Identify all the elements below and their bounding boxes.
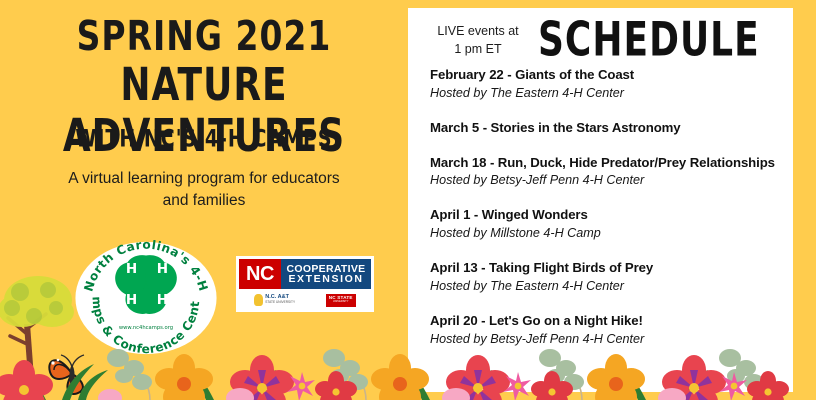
left-panel: SPRING 2021 NATURE ADVENTURES WITH NC'S …	[0, 0, 408, 400]
event-host: Hosted by The Eastern 4-H Center	[430, 278, 778, 295]
event-title: April 1 - Winged Wonders	[430, 206, 778, 224]
clover-letter-4: H	[157, 292, 168, 308]
schedule-event-list: February 22 - Giants of the Coast Hosted…	[430, 66, 778, 348]
extension-line-2: EXTENSION	[288, 274, 363, 285]
nc-cooperative-extension-logo: NC COOPERATIVE EXTENSION N.C. A&T STATE …	[236, 256, 374, 312]
title-spring-2021: SPRING 2021	[0, 11, 408, 60]
schedule-event: February 22 - Giants of the Coast Hosted…	[430, 66, 778, 102]
live-note-line-1: LIVE events at	[426, 22, 530, 40]
nc-mark: NC	[239, 259, 281, 289]
logo-url: www.nc4hcamps.org	[119, 325, 173, 331]
extension-logo-main: NC COOPERATIVE EXTENSION	[239, 259, 371, 289]
program-subtitle: A virtual learning program for educators…	[34, 168, 374, 213]
clover-letter-2: H	[157, 261, 168, 277]
schedule-event: April 13 - Taking Flight Birds of Prey H…	[430, 259, 778, 295]
nc-at-logo: N.C. A&T STATE UNIVERSITY	[254, 294, 295, 306]
schedule-event: March 5 - Stories in the Stars Astronomy	[430, 119, 778, 137]
event-host: Hosted by The Eastern 4-H Center	[430, 85, 778, 102]
live-events-note: LIVE events at 1 pm ET	[426, 22, 530, 58]
schedule-event: April 20 - Let's Go on a Night Hike! Hos…	[430, 312, 778, 348]
nc-at-seal-icon	[254, 294, 263, 306]
subtitle-line-1: A virtual learning program for educators	[34, 168, 374, 190]
clover-letter-3: H	[126, 292, 137, 308]
title-with-nc-4h-camps: WITH NC'S 4-H CAMPS	[0, 125, 408, 153]
event-title: February 22 - Giants of the Coast	[430, 66, 778, 84]
poster-canvas: SPRING 2021 NATURE ADVENTURES WITH NC'S …	[0, 0, 816, 400]
extension-partner-logos: N.C. A&T STATE UNIVERSITY NC STATE UNIVE…	[239, 289, 371, 309]
schedule-panel: LIVE events at 1 pm ET SCHEDULE February…	[408, 8, 793, 392]
clover-letter-1: H	[126, 261, 137, 277]
extension-wordmark: COOPERATIVE EXTENSION	[281, 259, 371, 289]
schedule-heading: SCHEDULE	[538, 14, 760, 67]
event-title: April 13 - Taking Flight Birds of Prey	[430, 259, 778, 277]
schedule-event: April 1 - Winged Wonders Hosted by Mills…	[430, 206, 778, 242]
event-host: Hosted by Betsy-Jeff Penn 4-H Center	[430, 172, 778, 189]
nc-at-sub: STATE UNIVERSITY	[265, 301, 295, 304]
schedule-event: March 18 - Run, Duck, Hide Predator/Prey…	[430, 154, 778, 190]
event-title: March 5 - Stories in the Stars Astronomy	[430, 119, 778, 137]
nc-at-wordmark: N.C. A&T STATE UNIVERSITY	[265, 295, 295, 304]
event-title: March 18 - Run, Duck, Hide Predator/Prey…	[430, 154, 778, 172]
nc-state-sub: UNIVERSITY	[333, 301, 349, 304]
live-note-line-2: 1 pm ET	[426, 40, 530, 58]
event-host: Hosted by Millstone 4-H Camp	[430, 225, 778, 242]
nc-state-logo: NC STATE UNIVERSITY	[326, 294, 356, 307]
event-host: Hosted by Betsy-Jeff Penn 4-H Center	[430, 331, 778, 348]
butterfly-illustration	[44, 350, 100, 398]
subtitle-line-2: and families	[34, 190, 374, 212]
nc-4h-camps-logo: H H H H North Carolina's 4-H Camps & Con…	[72, 240, 220, 356]
event-title: April 20 - Let's Go on a Night Hike!	[430, 312, 778, 330]
